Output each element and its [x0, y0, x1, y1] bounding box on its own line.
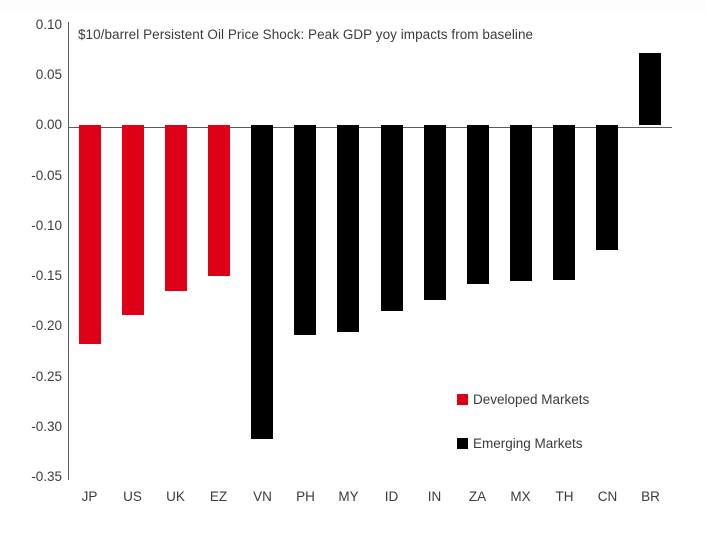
x-axis-tick-label-ph: PH: [284, 490, 327, 504]
bar-id: [381, 125, 403, 311]
x-axis-tick-label-mx: MX: [499, 490, 542, 504]
x-axis-tick-label-id: ID: [370, 490, 413, 504]
x-axis-tick-label-ez: EZ: [197, 490, 240, 504]
bar-za: [467, 125, 489, 284]
x-axis-tick-label-cn: CN: [586, 490, 629, 504]
x-axis-tick-label-za: ZA: [456, 490, 499, 504]
x-axis-tick-label-th: TH: [543, 490, 586, 504]
bar-mx: [510, 125, 532, 281]
legend-item-developed-markets: Developed Markets: [457, 393, 589, 407]
legend-item-emerging-markets: Emerging Markets: [457, 437, 583, 451]
bar-ph: [294, 125, 316, 335]
x-axis-tick-label-br: BR: [629, 490, 672, 504]
x-axis-tick-label-my: MY: [327, 490, 370, 504]
zero-baseline: [68, 127, 672, 128]
bar-my: [337, 125, 359, 332]
y-axis-tick-label: 0.05: [10, 68, 62, 82]
cropped-banner-sliver: [0, 0, 706, 10]
y-axis-tick-label: 0.00: [10, 118, 62, 132]
y-axis-tick-label: -0.25: [10, 370, 62, 384]
bar-vn: [251, 125, 273, 439]
bar-uk: [165, 125, 187, 291]
bar-ez: [208, 125, 230, 276]
x-axis-tick-label-vn: VN: [241, 490, 284, 504]
legend-label-developed-markets: Developed Markets: [473, 393, 589, 407]
x-axis-tick-label-jp: JP: [68, 490, 111, 504]
y-axis-tick-label: -0.20: [10, 319, 62, 333]
y-axis-tick-label: -0.15: [10, 269, 62, 283]
y-axis-tick-labels: 0.100.050.00-0.05-0.10-0.15-0.20-0.25-0.…: [0, 0, 62, 541]
y-axis-tick-label: 0.10: [10, 18, 62, 32]
bar-cn: [596, 125, 618, 250]
bar-th: [553, 125, 575, 280]
chart-title: $10/barrel Persistent Oil Price Shock: P…: [78, 27, 533, 42]
legend-swatch-developed-markets: [457, 394, 468, 405]
y-axis-tick-label: -0.10: [10, 219, 62, 233]
bar-in: [424, 125, 446, 300]
bar-us: [122, 125, 144, 315]
bar-chart: $10/barrel Persistent Oil Price Shock: P…: [0, 0, 706, 541]
bar-jp: [79, 125, 101, 344]
y-axis-tick-label: -0.05: [10, 169, 62, 183]
bar-br: [639, 53, 661, 125]
y-axis-tick-label: -0.35: [10, 470, 62, 484]
legend-swatch-emerging-markets: [457, 438, 468, 449]
x-axis-tick-label-in: IN: [413, 490, 456, 504]
y-axis-line: [68, 22, 69, 480]
y-axis-tick-label: -0.30: [10, 420, 62, 434]
x-axis-tick-label-us: US: [111, 490, 154, 504]
x-axis-tick-label-uk: UK: [154, 490, 197, 504]
legend-label-emerging-markets: Emerging Markets: [473, 437, 583, 451]
